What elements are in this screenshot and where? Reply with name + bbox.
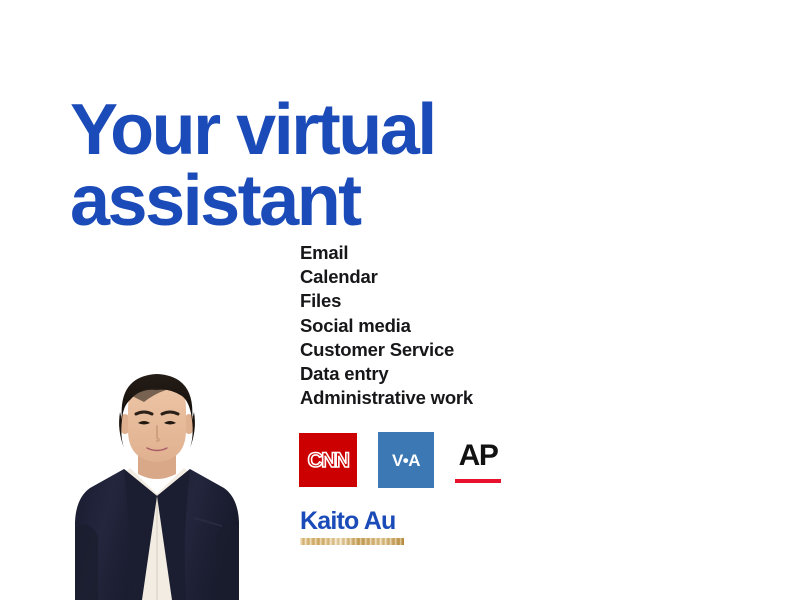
signature-underline [300,538,404,545]
headline-line-1: Your virtual [70,95,590,166]
page-title: Your virtual assistant [70,95,590,236]
press-logo-row: CNN V•A AP [299,432,501,488]
signature-block: Kaito Au [300,508,404,545]
list-item: Customer Service [300,338,600,362]
ap-logo-icon: AP [455,437,501,483]
cnn-logo-text: CNN [308,450,349,471]
headline-line-2: assistant [70,166,590,237]
list-item: Files [300,289,600,313]
voa-logo-icon: V•A [378,432,434,488]
services-list: Email Calendar Files Social media Custom… [300,241,600,410]
list-item: Email [300,241,600,265]
list-item: Calendar [300,265,600,289]
presenter-photo [62,368,252,600]
presenter-name: Kaito Au [300,508,404,534]
list-item: Data entry [300,362,600,386]
list-item: Social media [300,314,600,338]
ap-logo-text: AP [459,441,498,471]
cnn-logo-icon: CNN [299,433,357,487]
presenter-photo-illustration [62,368,252,600]
ap-logo-underline [455,479,501,483]
list-item: Administrative work [300,386,600,410]
slide-canvas: Your virtual assistant Email Calendar Fi… [0,0,800,600]
voa-logo-text: V•A [392,452,420,469]
